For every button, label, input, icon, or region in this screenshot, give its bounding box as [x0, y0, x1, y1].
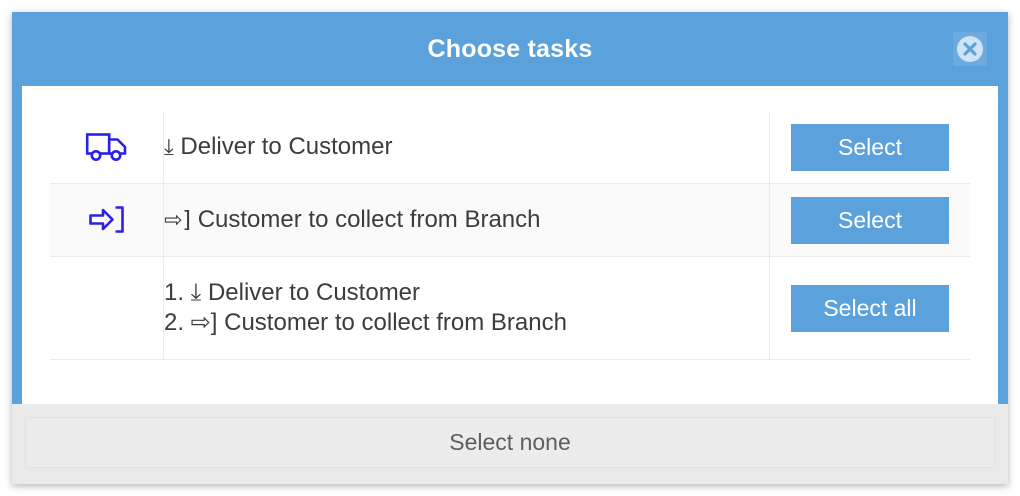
task-label-text: Customer to collect from Branch [198, 206, 541, 233]
enter-arrow-glyph: ⇨] [164, 208, 191, 233]
screen-root: Choose tasks [0, 0, 1020, 496]
row-label-cell: ⇨] Customer to collect from Branch [164, 184, 770, 257]
row-action-cell: Select all [770, 257, 971, 360]
task-label: ⤓ Deliver to Customer [164, 132, 769, 163]
task-list-container: ⤓ Deliver to Customer Select [22, 86, 998, 404]
row-icon-cell [50, 111, 164, 184]
dialog-body: ⤓ Deliver to Customer Select [22, 86, 998, 404]
close-circle-icon [955, 34, 985, 64]
task-label-line-1: 1. ⤓ Deliver to Customer [164, 278, 769, 308]
close-button[interactable] [953, 32, 987, 66]
task-label-list: 1. ⤓ Deliver to Customer 2. ⇨] Customer … [164, 278, 769, 339]
row-action-cell: Select [770, 184, 971, 257]
arrow-into-bracket-icon [88, 203, 126, 237]
select-button[interactable]: Select [791, 124, 949, 171]
row-action-cell: Select [770, 111, 971, 184]
table-row[interactable]: 1. ⤓ Deliver to Customer 2. ⇨] Customer … [50, 257, 970, 360]
task-label-line-2: 2. ⇨] Customer to collect from Branch [164, 308, 769, 338]
table-row[interactable]: ⤓ Deliver to Customer Select [50, 111, 970, 184]
row-icon-cell [50, 257, 164, 360]
choose-tasks-dialog: Choose tasks [12, 12, 1008, 484]
select-none-button[interactable]: Select none [25, 417, 995, 468]
table-row[interactable]: ⇨] Customer to collect from Branch Selec… [50, 184, 970, 257]
download-arrow-glyph: ⤓ [164, 135, 174, 160]
row-label-cell: 1. ⤓ Deliver to Customer 2. ⇨] Customer … [164, 257, 770, 360]
task-label-text: Deliver to Customer [180, 133, 392, 160]
select-button[interactable]: Select [791, 197, 949, 244]
row-icon-cell [50, 184, 164, 257]
task-table: ⤓ Deliver to Customer Select [50, 111, 970, 360]
dialog-title: Choose tasks [428, 37, 593, 62]
task-label: ⇨] Customer to collect from Branch [164, 205, 769, 236]
row-label-cell: ⤓ Deliver to Customer [164, 111, 770, 184]
dialog-footer: Select none [12, 404, 1008, 484]
delivery-truck-icon [85, 130, 129, 164]
dialog-titlebar: Choose tasks [12, 12, 1008, 86]
select-all-button[interactable]: Select all [791, 285, 949, 332]
